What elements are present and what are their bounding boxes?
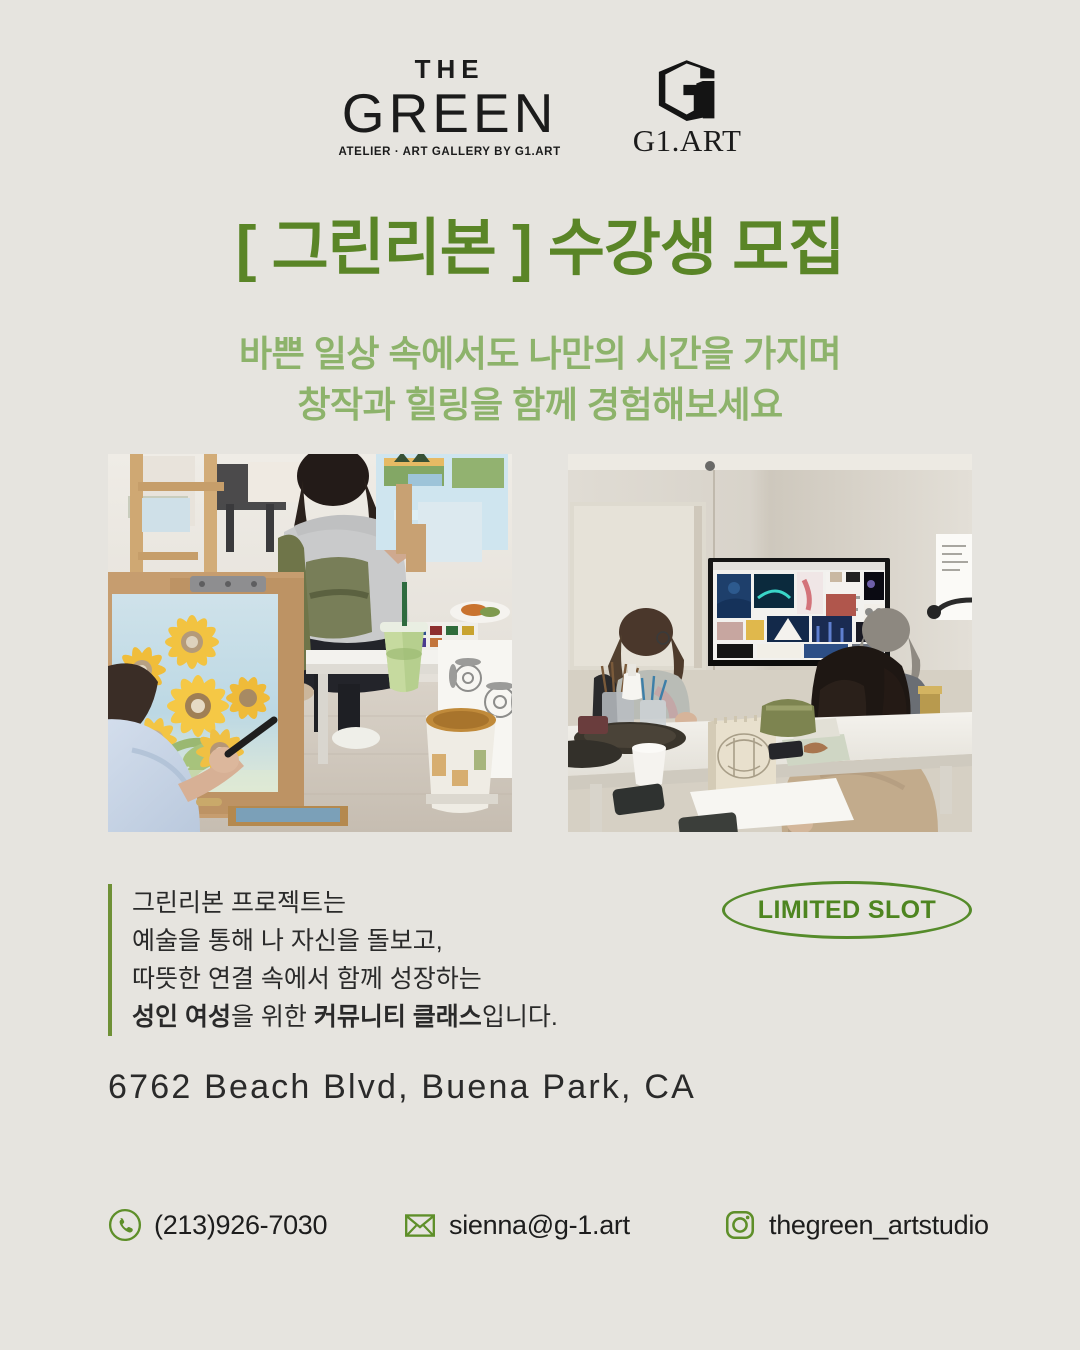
photo-watercolor-class xyxy=(108,454,512,832)
photo-watercolor-class-image xyxy=(108,454,512,832)
instagram-icon xyxy=(723,1208,757,1242)
the-green-logo: THE GREEN ATELIER · ART GALLERY BY G1.AR… xyxy=(339,56,561,158)
address-text: 6762 Beach Blvd, Buena Park, CA xyxy=(108,1068,696,1107)
description-emphasis-1: 성인 여성 xyxy=(132,1003,231,1031)
description-block: 그린리본 프로젝트는 예술을 통해 나 자신을 돌보고, 따뜻한 연결 속에서 … xyxy=(108,884,668,1036)
contact-phone[interactable]: (213)926-7030 xyxy=(108,1202,327,1248)
subtitle-line-2: 창작과 힐링을 함께 경험해보세요 xyxy=(0,379,1080,430)
photo-classroom-screen-image xyxy=(568,454,972,832)
photo-gallery xyxy=(108,454,972,832)
logo-row: THE GREEN ATELIER · ART GALLERY BY G1.AR… xyxy=(0,52,1080,162)
photo-classroom-screen xyxy=(568,454,972,832)
g1-art-logo: G1.ART xyxy=(633,59,742,156)
limited-slot-label: LIMITED SLOT xyxy=(758,896,936,925)
poster-canvas: THE GREEN ATELIER · ART GALLERY BY G1.AR… xyxy=(0,0,1080,1350)
logo-tagline: ATELIER · ART GALLERY BY G1.ART xyxy=(339,146,561,158)
logo-the-text: THE xyxy=(339,56,561,82)
description-emphasis-2: 커뮤니티 클래스 xyxy=(314,1003,482,1031)
description-line-4: 성인 여성을 위한 커뮤니티 클래스입니다. xyxy=(132,998,668,1036)
g1-wordmark: G1.ART xyxy=(633,125,742,156)
description-line-1: 그린리본 프로젝트는 xyxy=(132,884,668,922)
g1-hexagon-mark-icon xyxy=(655,59,720,121)
contact-phone-value: (213)926-7030 xyxy=(154,1210,327,1241)
subtitle: 바쁜 일상 속에서도 나만의 시간을 가지며 창작과 힐링을 함께 경험해보세요 xyxy=(0,328,1080,430)
contact-instagram-value: thegreen_artstudio xyxy=(769,1210,989,1241)
contact-email-value: sienna@g-1.art xyxy=(449,1210,630,1241)
logo-green-text: GREEN xyxy=(339,86,561,141)
contact-instagram[interactable]: thegreen_artstudio xyxy=(723,1202,989,1248)
description-line-4-tail: 입니다. xyxy=(482,1003,558,1031)
limited-slot-badge: LIMITED SLOT xyxy=(722,881,972,939)
phone-icon xyxy=(108,1208,142,1242)
page-title: [ 그린리본 ] 수강생 모집 xyxy=(0,213,1080,284)
envelope-icon xyxy=(403,1208,437,1242)
description-line-2: 예술을 통해 나 자신을 돌보고, xyxy=(132,922,668,960)
contact-bar: (213)926-7030 sienna@g-1.art thegreen_ar… xyxy=(108,1202,988,1248)
subtitle-line-1: 바쁜 일상 속에서도 나만의 시간을 가지며 xyxy=(0,328,1080,379)
contact-email[interactable]: sienna@g-1.art xyxy=(403,1202,630,1248)
description-line-3: 따뜻한 연결 속에서 함께 성장하는 xyxy=(132,960,668,998)
description-line-4-mid: 을 위한 xyxy=(231,1003,314,1031)
